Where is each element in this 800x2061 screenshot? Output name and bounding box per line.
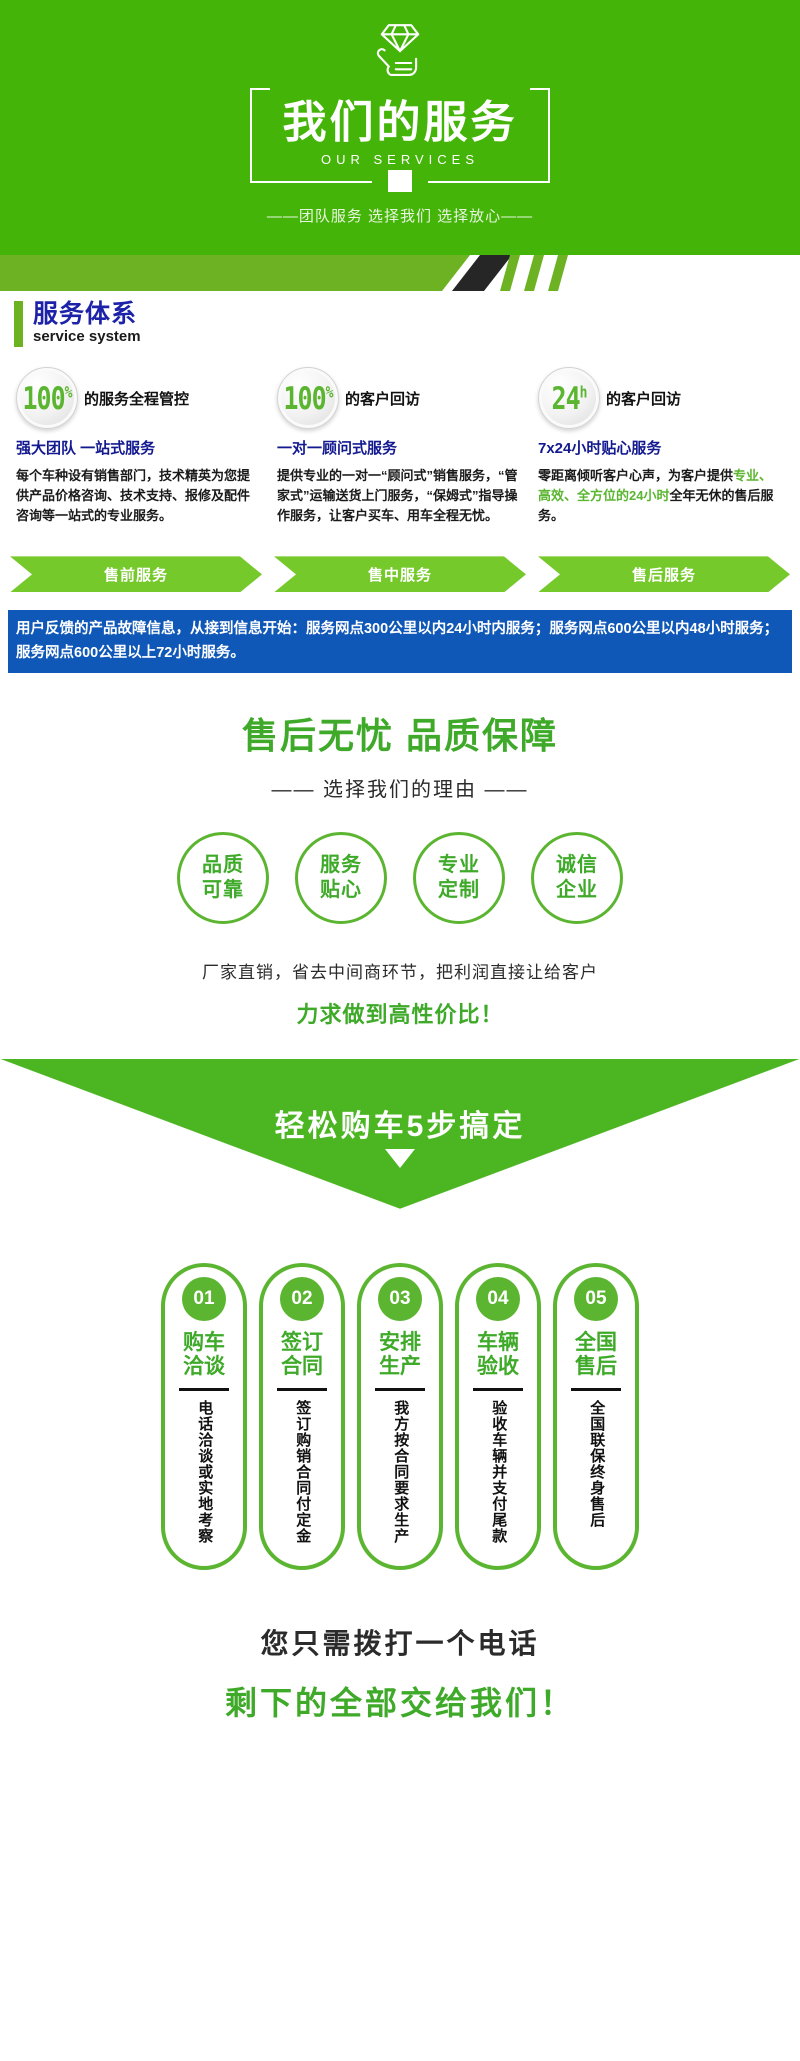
badge-body: 零距离倾听客户心声，为客户提供专业、高效、全方位的24小时全年无休的售后服务。 <box>530 466 791 526</box>
factory-line-2: 力求做到高性价比！ <box>0 997 800 1029</box>
service-system-title-cn: 服务体系 <box>33 301 141 327</box>
pill-line-1: 服务 <box>320 853 362 878</box>
service-system-heading: 服务体系 service system <box>0 291 800 353</box>
step-title: 签订 合同 <box>281 1331 323 1379</box>
reason-pill: 诚信 企业 <box>531 832 623 924</box>
badge-item: 100% 的服务全程管控 <box>8 367 269 429</box>
badge-circle: 24h <box>538 367 600 429</box>
step-title-line-1: 安排 <box>379 1331 421 1354</box>
worry-free-title: 售后无忧 品质保障 <box>0 707 800 759</box>
reason-pill: 服务 贴心 <box>295 832 387 924</box>
badge-number: 100% <box>23 380 72 416</box>
pill-line-1: 诚信 <box>556 853 598 878</box>
badge-circle: 100% <box>277 367 339 429</box>
badge-label: 的客户回访 <box>606 388 681 409</box>
service-system-title-en: service system <box>33 328 141 345</box>
badge-body-pre: 零距离倾听客户心声，为客户提供 <box>538 468 733 483</box>
step-divider <box>179 1388 229 1391</box>
badge-item: 100% 的客户回访 <box>269 367 530 429</box>
badge-heading: 一对一顾问式服务 <box>269 437 530 458</box>
heading-accent-bar <box>14 301 23 347</box>
reason-pill-row: 品质 可靠 服务 贴心 专业 定制 诚信 企业 <box>0 802 800 924</box>
step-card: 01 购车 洽谈 电话洽谈或实地考察 <box>161 1263 247 1570</box>
step-card: 02 签订 合同 签订购销合同付定金 <box>259 1263 345 1570</box>
hero-title-frame: 我们的服务 OUR SERVICES <box>250 88 550 183</box>
diamond-hand-icon <box>365 14 435 84</box>
badge-heading: 强大团队 一站式服务 <box>8 437 269 458</box>
service-notice-banner: 用户反馈的产品故障信息，从接到信息开始：服务网点300公里以内24小时内服务；服… <box>8 610 792 672</box>
worry-free-subtitle: —— 选择我们的理由 —— <box>0 773 800 802</box>
steps-banner: 轻松购车5步搞定 <box>0 1059 800 1209</box>
step-divider <box>571 1388 621 1391</box>
chip-after-sales[interactable]: 售后服务 <box>538 556 790 592</box>
step-title-line-1: 车辆 <box>477 1331 519 1354</box>
step-description: 验收车辆并支付尾款 <box>487 1400 510 1550</box>
step-title: 车辆 验收 <box>477 1331 519 1379</box>
step-title-line-2: 生产 <box>379 1355 421 1378</box>
steps-banner-title: 轻松购车5步搞定 <box>0 1101 800 1145</box>
badge-heading: 7x24小时贴心服务 <box>530 437 791 458</box>
footer-call-to-action: 您只需拨打一个电话 剩下的全部交给我们！ <box>0 1570 800 1724</box>
step-title-line-1: 购车 <box>183 1331 225 1354</box>
step-description: 电话洽谈或实地考察 <box>193 1400 216 1550</box>
chip-pre-sales[interactable]: 售前服务 <box>10 556 262 592</box>
badge-item: 24h 的客户回访 <box>530 367 791 429</box>
badge-body-row: 每个车种设有销售部门，技术精英为您提供产品价格咨询、技术支持、报修及配件咨询等一… <box>0 458 800 526</box>
decor-stripe-2 <box>524 255 544 291</box>
step-title: 安排 生产 <box>379 1331 421 1379</box>
badge-label: 的客户回访 <box>345 388 420 409</box>
hero-banner: 我们的服务 OUR SERVICES ——团队服务 选择我们 选择放心—— <box>0 0 800 255</box>
step-number: 05 <box>574 1277 618 1321</box>
pill-line-2: 定制 <box>438 878 480 903</box>
decor-stripe-3 <box>548 255 568 291</box>
step-title-line-1: 全国 <box>575 1331 617 1354</box>
step-title-line-1: 签订 <box>281 1331 323 1354</box>
step-number: 01 <box>182 1277 226 1321</box>
step-title-line-2: 洽谈 <box>183 1355 225 1378</box>
step-title: 全国 售后 <box>575 1331 617 1379</box>
decor-green-wedge <box>0 255 470 291</box>
step-title-line-2: 合同 <box>281 1355 323 1378</box>
badge-heading-row: 强大团队 一站式服务 一对一顾问式服务 7x24小时贴心服务 <box>0 429 800 458</box>
factory-line-1: 厂家直销，省去中间商环节，把利润直接让给客户 <box>0 958 800 983</box>
badge-circle: 100% <box>16 367 78 429</box>
step-card: 04 车辆 验收 验收车辆并支付尾款 <box>455 1263 541 1570</box>
service-phase-chips: 售前服务 售中服务 售后服务 <box>0 526 800 592</box>
step-card: 03 安排 生产 我方按合同要求生产 <box>357 1263 443 1570</box>
reason-pill: 专业 定制 <box>413 832 505 924</box>
step-number: 04 <box>476 1277 520 1321</box>
pill-line-1: 品质 <box>202 853 244 878</box>
badge-row: 100% 的服务全程管控 100% 的客户回访 24h 的客户回访 <box>0 353 800 429</box>
badge-number: 100% <box>284 380 333 416</box>
down-caret-icon <box>385 1149 415 1168</box>
reason-pill: 品质 可靠 <box>177 832 269 924</box>
pill-line-2: 可靠 <box>202 878 244 903</box>
pill-line-2: 企业 <box>556 878 598 903</box>
step-title-line-2: 售后 <box>575 1355 617 1378</box>
step-divider <box>375 1388 425 1391</box>
factory-direct-section: 厂家直销，省去中间商环节，把利润直接让给客户 力求做到高性价比！ <box>0 924 800 1029</box>
badge-body: 提供专业的一对一“顾问式”销售服务，“管家式”运输送货上门服务，“保姆式”指导操… <box>269 466 530 526</box>
step-description: 全国联保终身售后 <box>585 1400 608 1550</box>
step-number: 02 <box>280 1277 324 1321</box>
page-subtitle: OUR SERVICES <box>321 152 479 167</box>
footer-line-1: 您只需拨打一个电话 <box>0 1622 800 1662</box>
hero-tagline: ——团队服务 选择我们 选择放心—— <box>267 205 533 226</box>
footer-line-2: 剩下的全部交给我们！ <box>0 1678 800 1724</box>
page-title: 我们的服务 <box>283 100 518 146</box>
badge-number: 24h <box>552 380 587 416</box>
step-description: 我方按合同要求生产 <box>389 1400 412 1550</box>
step-divider <box>277 1388 327 1391</box>
purchase-steps-row: 01 购车 洽谈 电话洽谈或实地考察 02 签订 合同 签订购销合同付定金 03… <box>0 1209 800 1570</box>
step-description: 签订购销合同付定金 <box>291 1400 314 1550</box>
service-system-decor-bar <box>0 255 800 291</box>
pill-line-1: 专业 <box>438 853 480 878</box>
step-title: 购车 洽谈 <box>183 1331 225 1379</box>
chip-during-sales[interactable]: 售中服务 <box>274 556 526 592</box>
step-divider <box>473 1388 523 1391</box>
badge-label: 的服务全程管控 <box>84 388 189 409</box>
step-number: 03 <box>378 1277 422 1321</box>
worry-free-section: 售后无忧 品质保障 —— 选择我们的理由 —— <box>0 673 800 802</box>
badge-body: 每个车种设有销售部门，技术精英为您提供产品价格咨询、技术支持、报修及配件咨询等一… <box>8 466 269 526</box>
pill-line-2: 贴心 <box>320 878 362 903</box>
step-card: 05 全国 售后 全国联保终身售后 <box>553 1263 639 1570</box>
hero-frame-tab <box>388 170 412 192</box>
step-title-line-2: 验收 <box>477 1355 519 1378</box>
